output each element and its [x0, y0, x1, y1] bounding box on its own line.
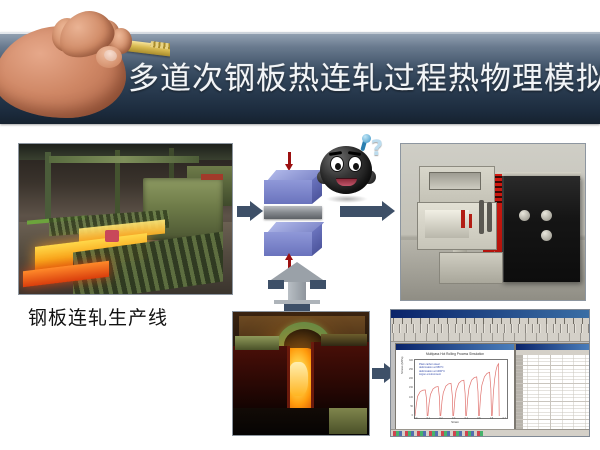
spreadsheet-window — [515, 343, 590, 435]
specimen-jaw-left — [235, 336, 279, 350]
question-emoji-icon: ? — [318, 140, 384, 206]
gleeble-red-cable — [461, 210, 465, 228]
excel-titlebar — [391, 310, 589, 318]
emoji-pupil-right — [353, 163, 359, 170]
rolling-mill-photo — [18, 143, 233, 295]
rolling-mill-caption: 钢板连轧生产线 — [28, 303, 218, 330]
gleeble-red-cable — [469, 214, 472, 228]
specimen-anvil-right — [311, 342, 370, 412]
arrow-shaft — [288, 282, 306, 302]
gleeble-hose — [479, 200, 484, 234]
hot-specimen-photo — [232, 311, 370, 436]
taskbar-tray — [393, 431, 483, 437]
chart-x-axis-label: Strain — [396, 420, 514, 424]
gleeble-knob — [519, 210, 530, 221]
chart-title: Multipass Hot Rolling Process Simulation — [396, 352, 514, 356]
chart-annotations: Plain carbon steeldeformation at 950°Cde… — [419, 363, 445, 377]
question-mark-icon: ? — [368, 136, 386, 160]
mill-operator-marker — [105, 230, 119, 242]
gleeble-window — [429, 172, 481, 190]
compression-arrow-down-icon — [288, 152, 291, 164]
gleeble-base — [439, 252, 503, 284]
emoji-face — [320, 146, 372, 194]
mill-red-part — [201, 174, 223, 180]
gleeble-machine-photo: GLEEBLE SYSTEM — [400, 143, 586, 301]
arrow-head — [268, 262, 326, 282]
gleeble-knob — [541, 210, 552, 221]
feedback-arrow-up-icon — [268, 262, 326, 312]
excel-statusbar — [391, 429, 589, 437]
specimen-green-panel — [329, 408, 367, 434]
arrow-shaft — [237, 206, 250, 217]
chart-window-titlebar — [396, 344, 514, 350]
simulation-software-screenshot: Multipass Hot Rolling Process Simulation… — [390, 309, 590, 437]
hand-holding-key-icon — [0, 2, 170, 127]
test-specimen — [264, 206, 322, 219]
chart-plot-area: Plain carbon steeldeformation at 950°Cde… — [414, 359, 508, 419]
upper-anvil — [264, 170, 320, 204]
overhead-crane — [49, 156, 199, 163]
arrow-shaft — [340, 206, 382, 217]
gleeble-knob — [541, 230, 552, 241]
specimen-anvil-left — [232, 346, 290, 408]
arrow-tab-left — [268, 280, 284, 289]
emoji-shadow — [326, 195, 368, 203]
specimen-neck — [288, 362, 308, 396]
arrow-shaft — [372, 368, 384, 379]
chart-y-ticks: 050100150200250300 — [402, 359, 413, 417]
spreadsheet-grid — [516, 355, 590, 429]
lower-anvil — [264, 222, 320, 256]
anvil-front-face — [264, 180, 312, 204]
excel-formula-bar — [391, 333, 589, 342]
gleeble-cabinet — [501, 176, 580, 282]
arrow-head — [382, 201, 395, 221]
specimen-jaw-right — [321, 334, 367, 346]
chart-window: Multipass Hot Rolling Process Simulation… — [395, 343, 515, 431]
arrow-tab-right — [310, 280, 326, 289]
gleeble-hose — [487, 202, 492, 232]
emoji-pupil-left — [335, 163, 341, 170]
page-title: 多道次钢板热连轧过程热物理模拟 — [128, 56, 594, 102]
